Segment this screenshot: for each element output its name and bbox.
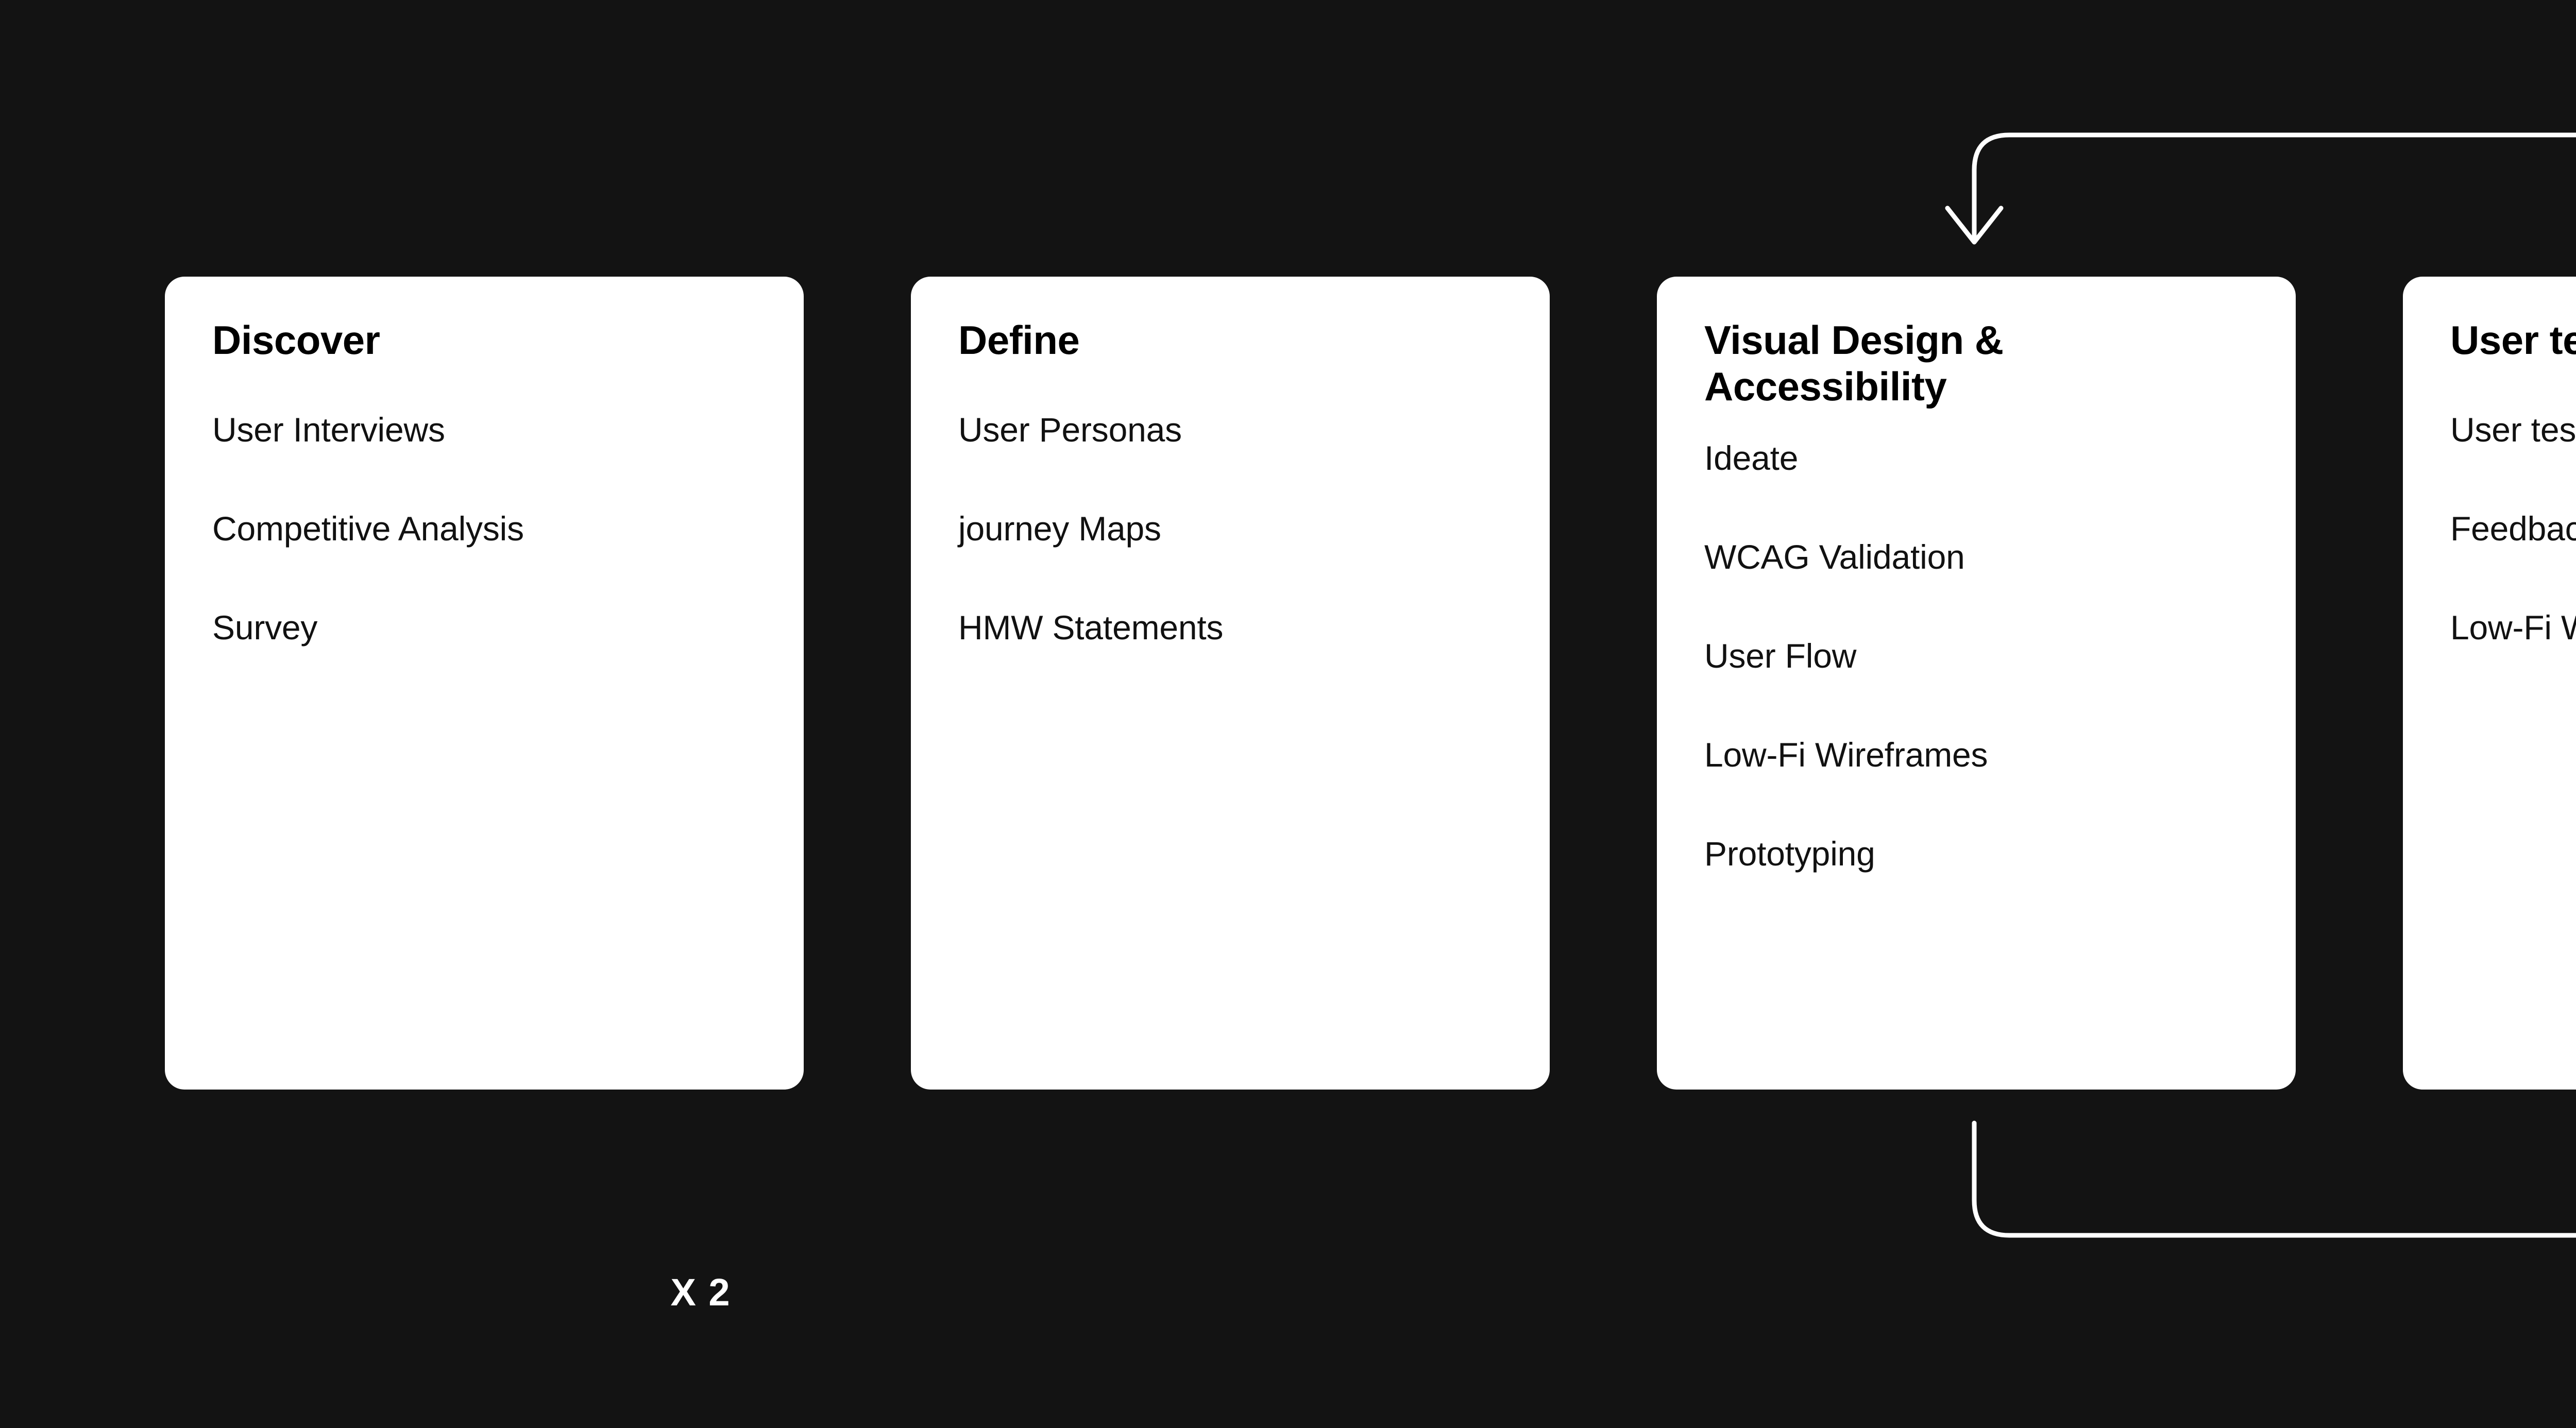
list-item: HMW Statements [958,610,1502,644]
loop-count-text: X 2 [670,1270,731,1314]
list-item: Feedback [2450,512,2576,546]
phase-card-item-list: User Interviews Competitive Analysis Sur… [212,413,756,644]
list-item: User Interviews [212,413,756,447]
list-item: Prototyping [1704,837,2248,871]
phase-card-item-list: User testing Feedback Low-Fi Wireframes [2450,413,2576,644]
list-item: Ideate [1704,441,2248,475]
top-arrow-path [1974,135,2576,242]
list-item: journey Maps [958,512,1502,546]
phase-card-define[interactable]: Define User Personas journey Maps HMW St… [911,277,1550,1090]
list-item: WCAG Validation [1704,540,2248,574]
phase-card-visual-design-accessibility[interactable]: Visual Design & Accessibility Ideate WCA… [1657,277,2296,1090]
phase-card-title: Discover [212,317,756,363]
process-flow-board: Discover User Interviews Competitive Ana… [0,0,2576,1428]
list-item: Low-Fi Wireframes [2450,610,2576,644]
loop-count-label: X 2 [0,1270,2576,1314]
phase-card-item-list: User Personas journey Maps HMW Statement… [958,413,1502,644]
top-arrow-head-icon [1947,208,2001,242]
list-item: User testing [2450,413,2576,447]
phase-card-title: Visual Design & Accessibility [1704,317,2248,410]
phase-card-title: Define [958,317,1502,363]
top-feedback-arrow [1947,135,2576,242]
list-item: Survey [212,610,756,644]
phase-card-title: User testing [2450,317,2576,363]
phase-card-discover[interactable]: Discover User Interviews Competitive Ana… [165,277,804,1090]
list-item: Competitive Analysis [212,512,756,546]
phase-card-row: Discover User Interviews Competitive Ana… [165,277,2576,1090]
phase-card-user-testing[interactable]: User testing User testing Feedback Low-F… [2403,277,2576,1090]
list-item: Low-Fi Wireframes [1704,738,2248,772]
bottom-arrow-path [1974,1123,2576,1235]
phase-card-item-list: Ideate WCAG Validation User Flow Low-Fi … [1704,441,2248,871]
list-item: User Flow [1704,639,2248,673]
list-item: User Personas [958,413,1502,447]
bottom-loop-arrow [1974,1123,2576,1235]
